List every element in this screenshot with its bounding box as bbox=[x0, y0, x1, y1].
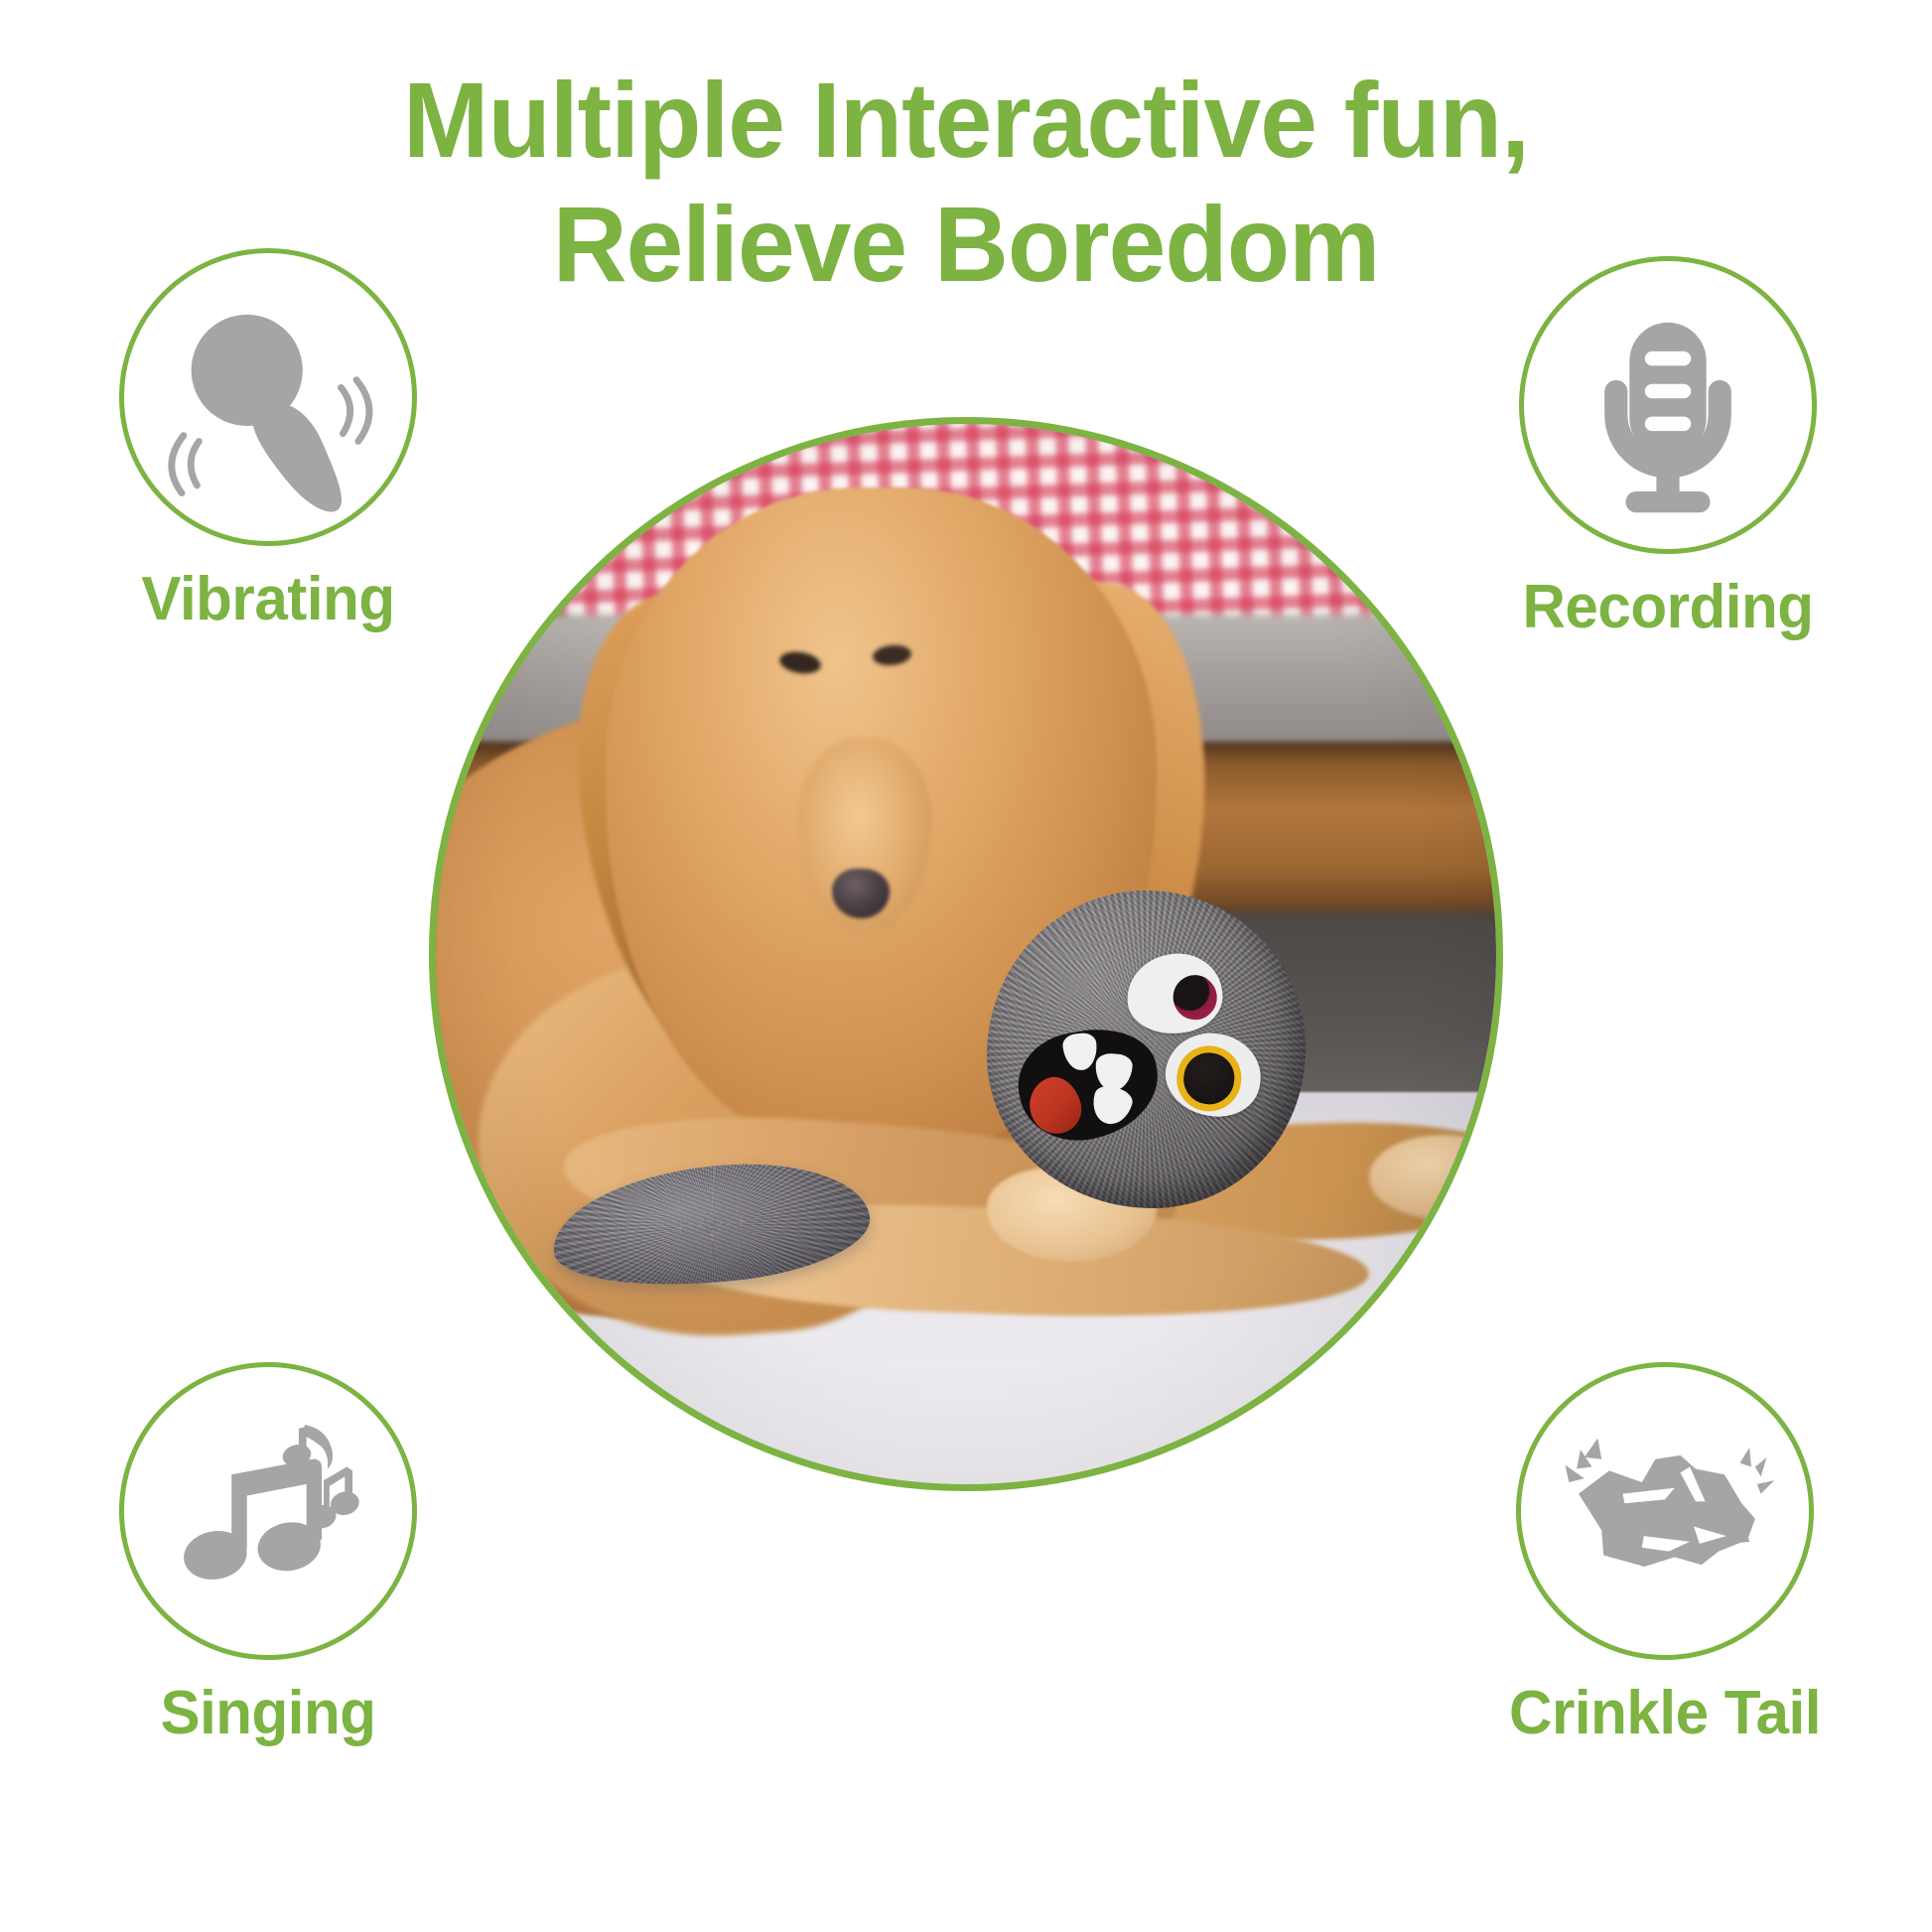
crinkle-paper-icon bbox=[1521, 1367, 1809, 1655]
feature-recording: Recording bbox=[1504, 256, 1832, 642]
infographic-canvas: Multiple Interactive fun, Relieve Boredo… bbox=[0, 0, 1932, 1932]
toy-tooth bbox=[1089, 1082, 1137, 1128]
microphone-icon bbox=[1524, 261, 1812, 549]
page-title-line-1: Multiple Interactive fun, bbox=[39, 58, 1893, 182]
feature-singing-label: Singing bbox=[109, 1678, 427, 1748]
feature-singing-ring bbox=[119, 1362, 417, 1660]
monster-ball-toy bbox=[987, 891, 1305, 1208]
feature-vibrating-label: Vibrating bbox=[109, 564, 427, 634]
feature-vibrating: Vibrating bbox=[104, 248, 432, 634]
feature-crinkle-tail: Crinkle Tail bbox=[1501, 1362, 1829, 1748]
feature-recording-label: Recording bbox=[1509, 572, 1827, 642]
feature-crinkle-tail-ring bbox=[1516, 1362, 1814, 1660]
toy-tooth bbox=[1061, 1032, 1099, 1071]
feature-vibrating-ring bbox=[119, 248, 417, 546]
feature-singing: Singing bbox=[104, 1362, 432, 1748]
feature-recording-ring bbox=[1519, 256, 1817, 554]
product-photo-scene bbox=[436, 424, 1496, 1484]
dog-left-eye bbox=[777, 648, 821, 675]
vibrating-massager-icon bbox=[124, 253, 412, 541]
feature-crinkle-tail-label: Crinkle Tail bbox=[1506, 1678, 1824, 1748]
dog-right-eye bbox=[872, 643, 912, 667]
music-notes-icon bbox=[124, 1367, 412, 1655]
product-photo bbox=[429, 417, 1503, 1491]
